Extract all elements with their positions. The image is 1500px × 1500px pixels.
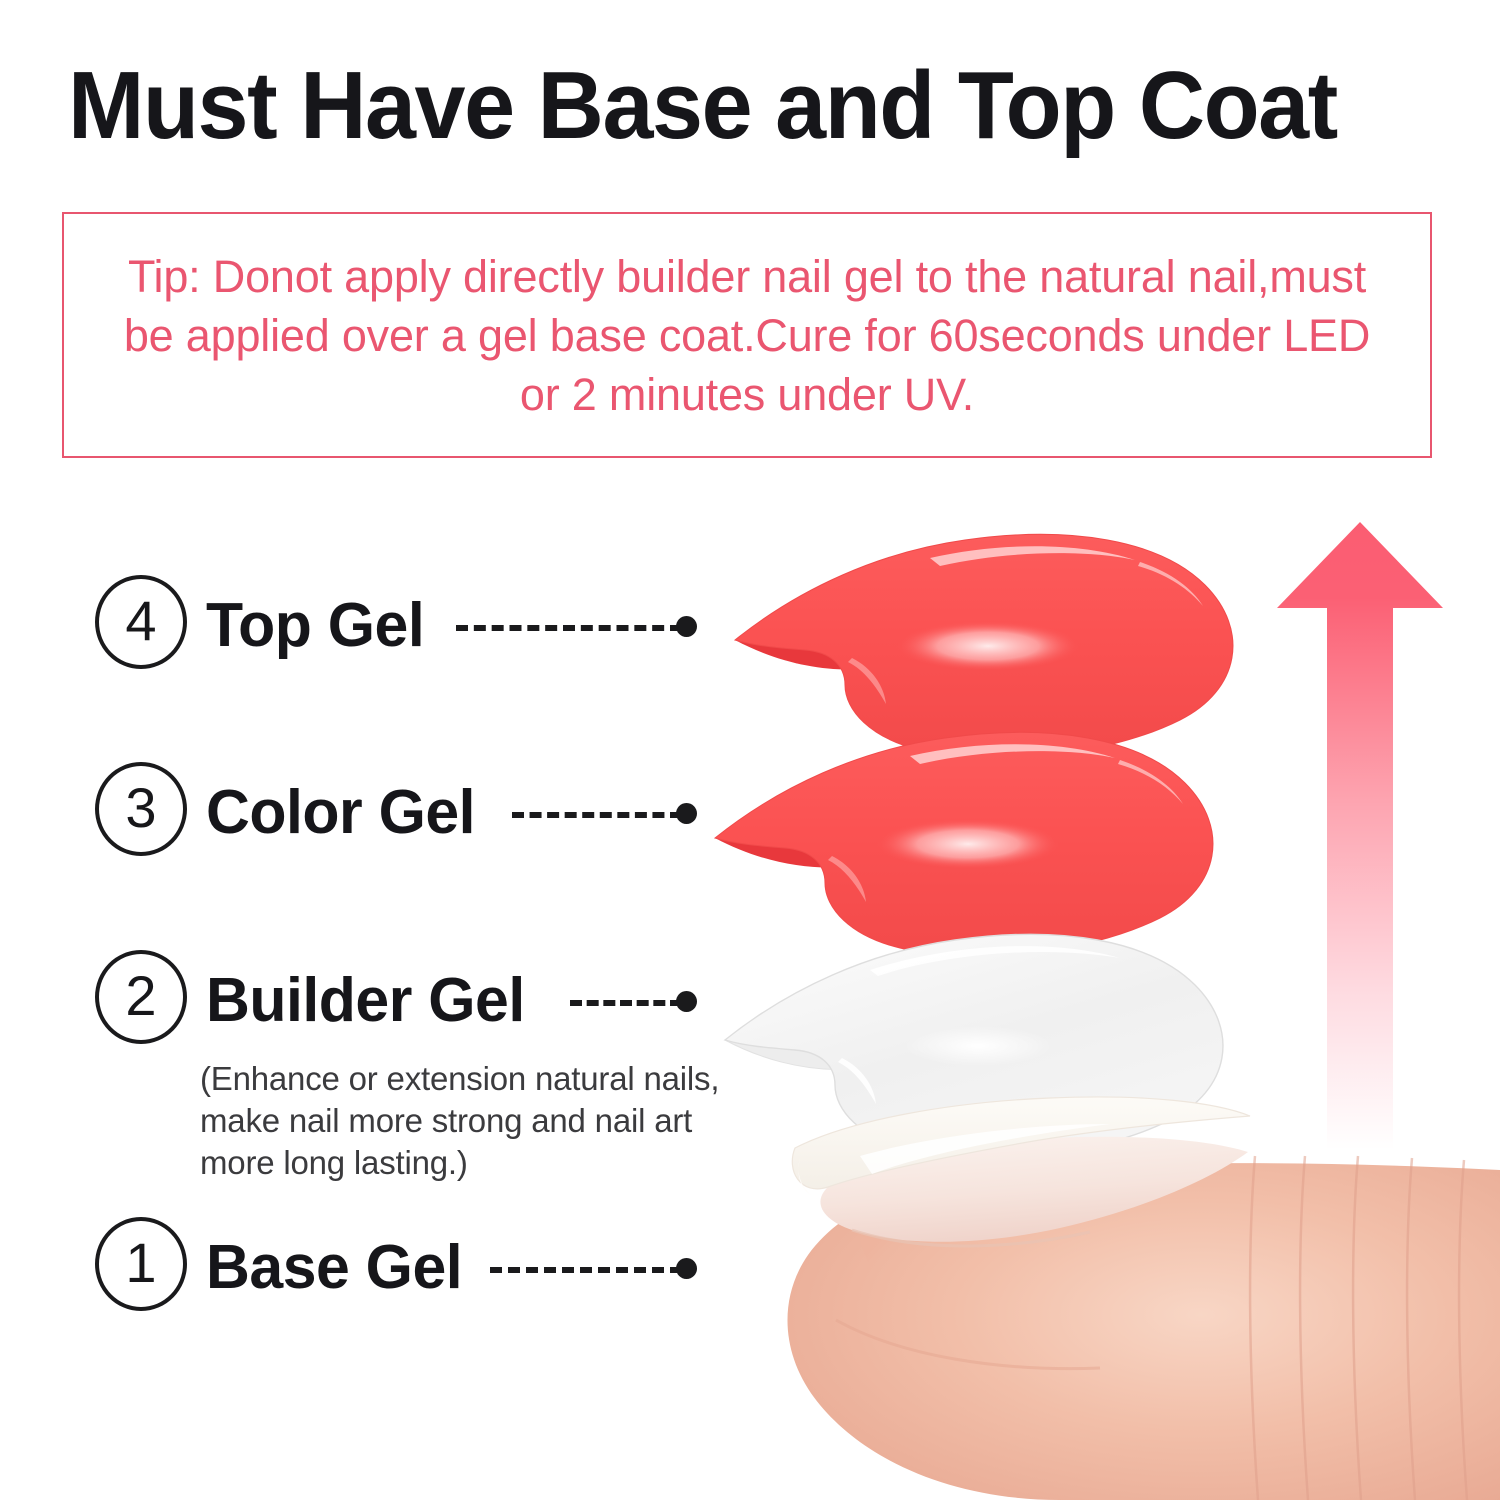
leader-line-base-gel (490, 1267, 682, 1273)
step-number-circle-3: 3 (95, 762, 187, 856)
step-label-base-gel: Base Gel (206, 1232, 462, 1303)
step-number-circle-4: 4 (95, 575, 187, 669)
finger-with-natural-nail-image (787, 1097, 1500, 1500)
step-number-circle-1: 1 (95, 1217, 187, 1311)
step-number-2: 2 (125, 968, 156, 1024)
step-number-4: 4 (125, 593, 156, 649)
top-gel-swatch (735, 534, 1233, 757)
page-title: Must Have Base and Top Coat (68, 58, 1337, 154)
upward-arrow-icon (1277, 522, 1443, 1150)
leader-dot-base-gel (676, 1258, 697, 1279)
leader-line-color-gel (512, 812, 682, 818)
step-number-circle-2: 2 (95, 950, 187, 1044)
tip-text: Tip: Donot apply directly builder nail g… (64, 214, 1430, 456)
step-label-builder-gel: Builder Gel (206, 965, 525, 1036)
step-number-1: 1 (125, 1235, 156, 1291)
color-gel-swatch (715, 732, 1213, 955)
step-number-3: 3 (125, 780, 156, 836)
builder-gel-note: (Enhance or extension natural nails, mak… (200, 1058, 780, 1184)
infographic-canvas: Must Have Base and Top Coat Tip: Donot a… (0, 0, 1500, 1500)
step-label-color-gel: Color Gel (206, 777, 475, 848)
leader-line-builder-gel (570, 1000, 682, 1006)
step-label-top-gel: Top Gel (206, 590, 424, 661)
leader-dot-builder-gel (676, 991, 697, 1012)
leader-dot-color-gel (676, 803, 697, 824)
leader-line-top-gel (456, 625, 682, 631)
tip-box: Tip: Donot apply directly builder nail g… (62, 212, 1432, 458)
leader-dot-top-gel (676, 616, 697, 637)
